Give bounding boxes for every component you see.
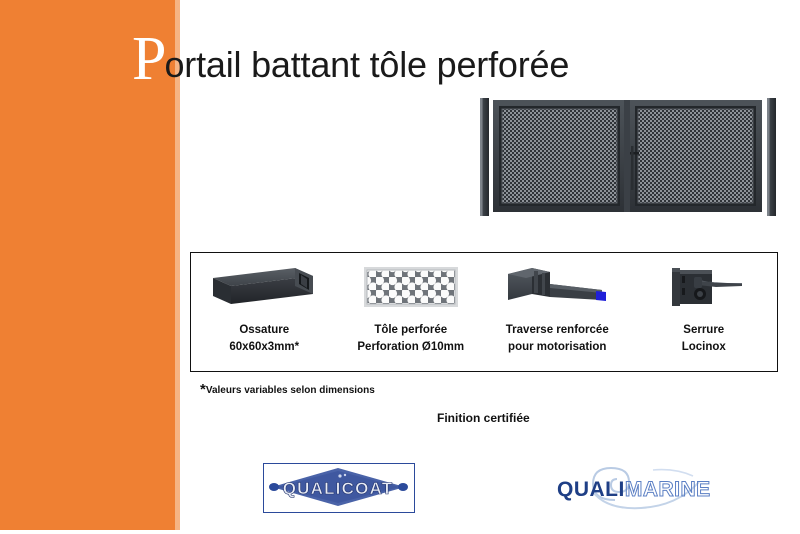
feature-serrure-label-2: Locinox [682,339,726,356]
lock-icon [656,262,752,312]
page-title: P ortail battant tôle perforée [132,26,569,88]
qualimarine-logo: QUALIMARINE [557,462,709,514]
perforated-sheet-sample-icon [363,262,459,312]
certification-heading: Finition certifiée [437,411,530,425]
feature-tole-label-1: Tôle perforée [374,322,447,339]
features-panel: Ossature 60x60x3mm* [190,252,778,372]
footnote-text: Valeurs variables selon dimensions [206,385,375,396]
reinforced-crossbar-motor-icon [498,262,616,312]
feature-ossature: Ossature 60x60x3mm* [191,253,338,371]
qualimarine-text-outline: MARINE [625,478,711,501]
feature-tole-label-2: Perforation Ø10mm [357,339,464,356]
feature-ossature-label-2: 60x60x3mm* [229,339,299,356]
feature-ossature-label-1: Ossature [239,322,289,339]
footnote: *Valeurs variables selon dimensions [200,381,375,398]
feature-tole-perforee: Tôle perforée Perforation Ø10mm [338,253,485,371]
product-sheet-page: Fe Acier 4mm* galvanisé [0,0,800,534]
square-tube-profile-icon [209,262,319,312]
feature-serrure-label-1: Serrure [683,322,724,339]
qualicoat-logo: QUALICOAT QUALICOAT [263,463,415,513]
page-title-initial: P [132,28,166,90]
feature-traverse-motorisation: Traverse renforcée pour motorisation [484,253,631,371]
feature-traverse-label-2: pour motorisation [508,339,606,356]
feature-traverse-label-1: Traverse renforcée [506,322,609,339]
qualimarine-text-solid: QUALI [557,478,625,501]
qualimarine-wordmark: QUALIMARINE [557,478,709,502]
product-image-gate [478,90,778,225]
feature-serrure: Serrure Locinox [631,253,778,371]
svg-text:QUALICOAT: QUALICOAT [283,479,394,498]
page-title-rest: ortail battant tôle perforée [164,45,569,85]
